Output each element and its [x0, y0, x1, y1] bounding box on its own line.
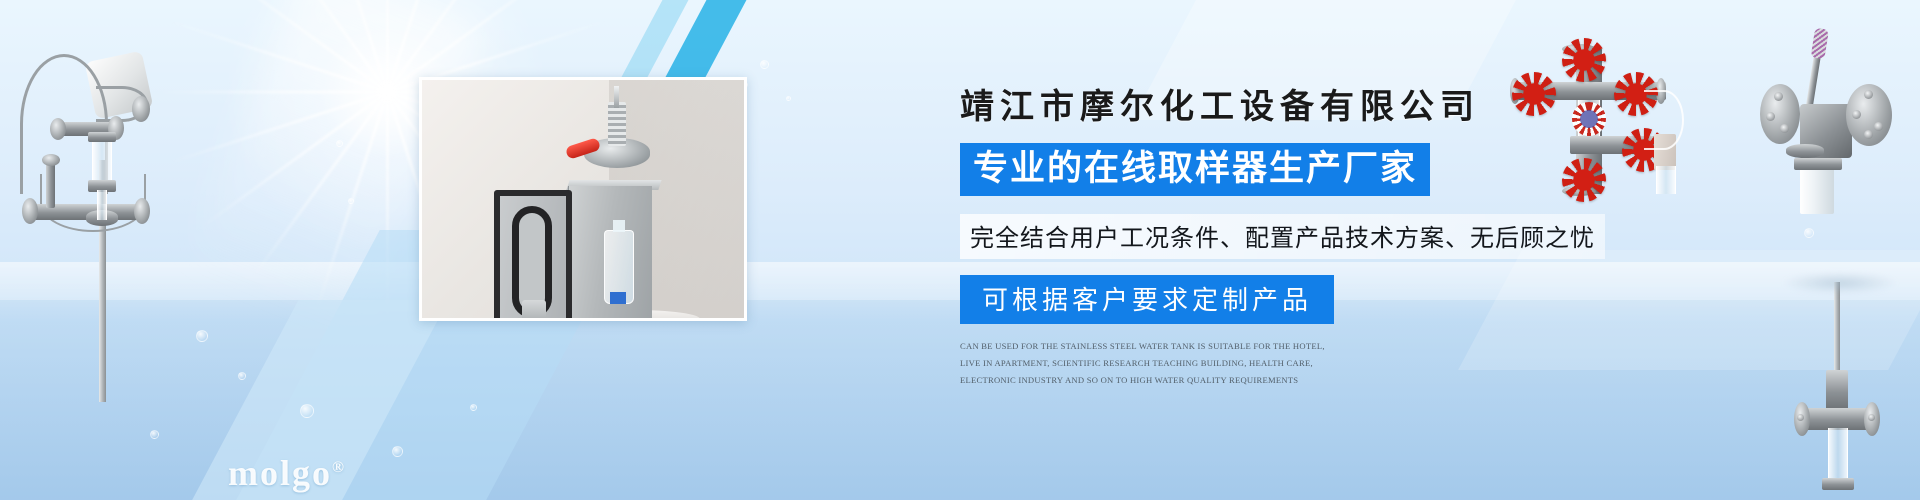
subline-badge: 完全结合用户工况条件、配置产品技术方案、无后顾之忧	[960, 214, 1605, 259]
subline-text: 完全结合用户工况条件、配置产品技术方案、无后顾之忧	[970, 218, 1595, 253]
water-droplet-icon	[300, 404, 314, 418]
product-left-sampler-assembly	[0, 34, 180, 284]
water-droplet-icon	[150, 430, 159, 439]
water-droplet-icon	[238, 372, 246, 380]
company-name: 靖江市摩尔化工设备有限公司	[960, 88, 1600, 129]
water-droplet-icon	[336, 140, 343, 147]
product-flanged-needle-sampling-valve	[1768, 282, 1918, 500]
product-photo-cabinet-sampler	[419, 77, 747, 321]
watermark-text: molgo	[228, 453, 332, 493]
water-droplet-icon	[392, 446, 403, 457]
water-droplet-icon	[760, 60, 769, 69]
custom-badge: 可根据客户要求定制产品	[960, 275, 1334, 324]
custom-badge-text: 可根据客户要求定制产品	[982, 280, 1312, 317]
headline-text: 专业的在线取样器生产厂家	[973, 148, 1417, 189]
water-droplet-icon	[1804, 228, 1814, 238]
registered-mark-icon: ®	[332, 459, 346, 476]
promo-banner: 靖江市摩尔化工设备有限公司 专业的在线取样器生产厂家 完全结合用户工况条件、配置…	[0, 0, 1920, 500]
english-paragraph: CAN BE USED FOR THE STAINLESS STEEL WATE…	[960, 338, 1335, 388]
water-droplet-icon	[196, 330, 208, 342]
watermark-logo: molgo®	[228, 452, 346, 494]
banner-text-block: 靖江市摩尔化工设备有限公司 专业的在线取样器生产厂家 完全结合用户工况条件、配置…	[960, 88, 1600, 388]
headline-badge: 专业的在线取样器生产厂家	[960, 143, 1430, 196]
water-droplet-icon	[786, 96, 791, 101]
water-droplet-icon	[470, 404, 477, 411]
water-droplet-icon	[348, 198, 354, 204]
product-lever-flanged-sampler	[1752, 22, 1920, 212]
